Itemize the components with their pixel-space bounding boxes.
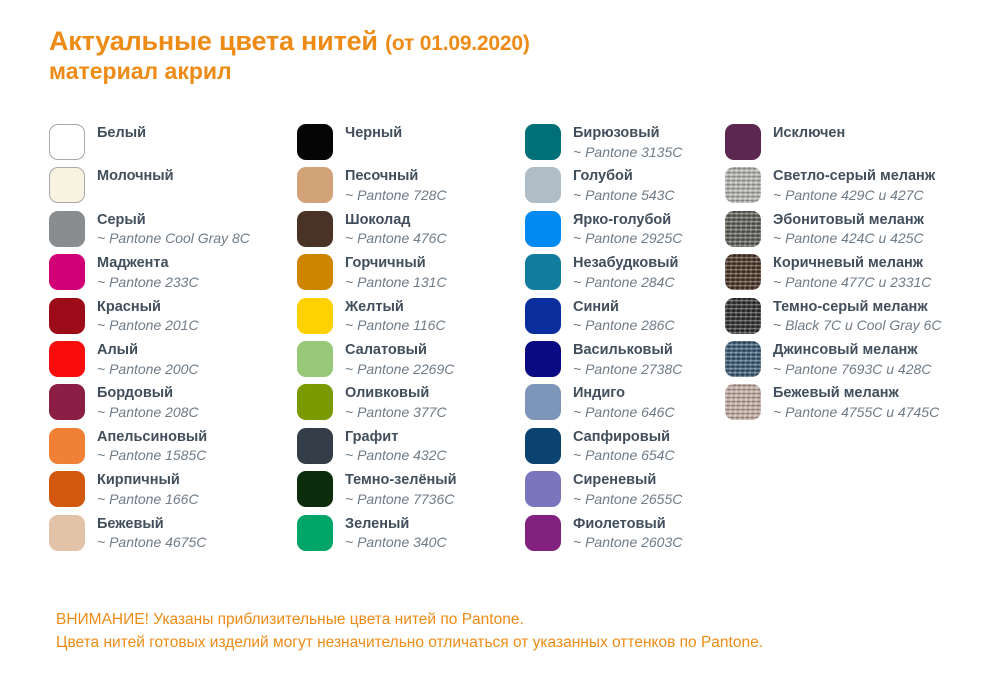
- color-name: Темно-серый меланж: [773, 299, 941, 317]
- color-name: Бежевый: [97, 516, 206, 534]
- color-swatch[interactable]: [525, 254, 561, 290]
- color-labels: Молочный: [97, 167, 174, 186]
- color-swatch[interactable]: [297, 341, 333, 377]
- color-labels: Сиреневый~ Pantone 2655C: [573, 471, 682, 508]
- color-swatch[interactable]: [297, 211, 333, 247]
- color-item[interactable]: Песочный~ Pantone 728C: [297, 167, 525, 210]
- pantone-reference: ~ Pantone 208C: [97, 404, 199, 421]
- color-item[interactable]: Маджента~ Pantone 233C: [49, 254, 297, 297]
- color-labels: Васильковый~ Pantone 2738C: [573, 341, 682, 378]
- color-swatch[interactable]: [725, 254, 761, 290]
- pantone-reference: ~ Pantone 377C: [345, 404, 447, 421]
- color-swatch[interactable]: [525, 428, 561, 464]
- color-labels: Песочный~ Pantone 728C: [345, 167, 447, 204]
- color-item[interactable]: Индиго~ Pantone 646C: [525, 384, 725, 427]
- color-labels: Серый~ Pantone Cool Gray 8C: [97, 211, 250, 248]
- color-item[interactable]: Ярко-голубой~ Pantone 2925C: [525, 211, 725, 254]
- color-item[interactable]: Эбонитовый меланж~ Pantone 424C и 425C: [725, 211, 995, 254]
- color-labels: Шоколад~ Pantone 476C: [345, 211, 447, 248]
- color-swatch[interactable]: [525, 124, 561, 160]
- color-labels: Сапфировый~ Pantone 654C: [573, 428, 675, 465]
- pantone-reference: ~ Pantone 233C: [97, 274, 199, 291]
- color-item[interactable]: Красный~ Pantone 201C: [49, 298, 297, 341]
- color-swatch[interactable]: [525, 384, 561, 420]
- color-item[interactable]: Незабудковый~ Pantone 284C: [525, 254, 725, 297]
- color-swatch[interactable]: [725, 341, 761, 377]
- footer-notice: ВНИМАНИЕ! Указаны приблизительные цвета …: [56, 608, 763, 655]
- color-labels: Оливковый~ Pantone 377C: [345, 384, 447, 421]
- color-name: Кирпичный: [97, 472, 199, 490]
- color-swatch[interactable]: [49, 211, 85, 247]
- color-labels: Горчичный~ Pantone 131C: [345, 254, 447, 291]
- color-swatch[interactable]: [49, 384, 85, 420]
- color-item[interactable]: Голубой~ Pantone 543C: [525, 167, 725, 210]
- color-labels: Бирюзовый~ Pantone 3135C: [573, 124, 682, 161]
- color-labels: Исключен: [773, 124, 845, 143]
- color-swatch[interactable]: [49, 167, 85, 203]
- pantone-reference: ~ Pantone 3135C: [573, 144, 682, 161]
- color-swatch[interactable]: [297, 515, 333, 551]
- color-swatch[interactable]: [525, 211, 561, 247]
- pantone-reference: ~ Pantone 2269C: [345, 361, 454, 378]
- color-swatch[interactable]: [297, 167, 333, 203]
- color-labels: Зеленый~ Pantone 340C: [345, 515, 447, 552]
- color-swatch[interactable]: [525, 298, 561, 334]
- pantone-reference: ~ Pantone Cool Gray 8C: [97, 230, 250, 247]
- pantone-reference: ~ Pantone 2603C: [573, 534, 682, 551]
- color-item[interactable]: Коричневый меланж~ Pantone 477C и 2331C: [725, 254, 995, 297]
- color-labels: Апельсиновый~ Pantone 1585C: [97, 428, 207, 465]
- color-labels: Голубой~ Pantone 543C: [573, 167, 675, 204]
- color-swatch[interactable]: [525, 341, 561, 377]
- color-swatch[interactable]: [525, 515, 561, 551]
- color-name: Серый: [97, 212, 250, 230]
- pantone-reference: ~ Pantone 4675C: [97, 534, 206, 551]
- color-name: Исключен: [773, 125, 845, 143]
- color-column-2: ЧерныйПесочный~ Pantone 728CШоколад~ Pan…: [297, 124, 525, 558]
- pantone-reference: ~ Pantone 131C: [345, 274, 447, 291]
- color-item[interactable]: Желтый~ Pantone 116C: [297, 298, 525, 341]
- color-labels: Джинсовый меланж~ Pantone 7693C и 428C: [773, 341, 931, 378]
- color-item[interactable]: Сапфировый~ Pantone 654C: [525, 428, 725, 471]
- color-name: Шоколад: [345, 212, 447, 230]
- pantone-reference: ~ Pantone 4755C и 4745C: [773, 404, 939, 421]
- pantone-reference: ~ Pantone 432C: [345, 447, 447, 464]
- pantone-reference: ~ Pantone 7736C: [345, 491, 457, 508]
- color-labels: Алый~ Pantone 200C: [97, 341, 199, 378]
- color-labels: Синий~ Pantone 286C: [573, 298, 675, 335]
- color-item[interactable]: Салатовый~ Pantone 2269C: [297, 341, 525, 384]
- color-name: Черный: [345, 125, 402, 143]
- color-name: Темно-зелёный: [345, 472, 457, 490]
- pantone-reference: ~ Pantone 728C: [345, 187, 447, 204]
- pantone-reference: ~ Pantone 200C: [97, 361, 199, 378]
- pantone-reference: ~ Pantone 2655C: [573, 491, 682, 508]
- color-swatch[interactable]: [49, 124, 85, 160]
- color-swatch[interactable]: [725, 384, 761, 420]
- color-name: Бежевый меланж: [773, 385, 939, 403]
- color-name: Синий: [573, 299, 675, 317]
- color-grid: БелыйМолочныйСерый~ Pantone Cool Gray 8C…: [0, 124, 1000, 584]
- color-swatch[interactable]: [525, 167, 561, 203]
- color-item[interactable]: Сиреневый~ Pantone 2655C: [525, 471, 725, 514]
- color-name: Графит: [345, 429, 447, 447]
- color-labels: Кирпичный~ Pantone 166C: [97, 471, 199, 508]
- page-title-main: Актуальные цвета нитей: [49, 26, 378, 56]
- pantone-reference: ~ Pantone 340C: [345, 534, 447, 551]
- color-name: Коричневый меланж: [773, 255, 931, 273]
- color-item[interactable]: Графит~ Pantone 432C: [297, 428, 525, 471]
- pantone-reference: ~ Pantone 646C: [573, 404, 675, 421]
- color-item[interactable]: Синий~ Pantone 286C: [525, 298, 725, 341]
- color-swatch[interactable]: [49, 254, 85, 290]
- footer-line-1: ВНИМАНИЕ! Указаны приблизительные цвета …: [56, 608, 763, 631]
- pantone-reference: ~ Black 7C и Cool Gray 6C: [773, 317, 941, 334]
- color-labels: Ярко-голубой~ Pantone 2925C: [573, 211, 682, 248]
- color-swatch[interactable]: [525, 471, 561, 507]
- pantone-reference: ~ Pantone 424C и 425C: [773, 230, 924, 247]
- color-swatch[interactable]: [725, 211, 761, 247]
- color-item[interactable]: Исключен: [725, 124, 995, 167]
- color-name: Оливковый: [345, 385, 447, 403]
- color-item[interactable]: Васильковый~ Pantone 2738C: [525, 341, 725, 384]
- color-item[interactable]: Темно-серый меланж~ Black 7C и Cool Gray…: [725, 298, 995, 341]
- color-labels: Бежевый~ Pantone 4675C: [97, 515, 206, 552]
- page-header: Актуальные цвета нитей (от 01.09.2020) м…: [49, 26, 949, 84]
- color-name: Джинсовый меланж: [773, 342, 931, 360]
- color-labels: Красный~ Pantone 201C: [97, 298, 199, 335]
- color-name: Песочный: [345, 168, 447, 186]
- color-swatch[interactable]: [49, 471, 85, 507]
- color-item[interactable]: Белый: [49, 124, 297, 167]
- color-swatch[interactable]: [49, 428, 85, 464]
- color-name: Незабудковый: [573, 255, 678, 273]
- pantone-reference: ~ Pantone 284C: [573, 274, 678, 291]
- color-item[interactable]: Кирпичный~ Pantone 166C: [49, 471, 297, 514]
- color-item[interactable]: Апельсиновый~ Pantone 1585C: [49, 428, 297, 471]
- color-swatch[interactable]: [725, 124, 761, 160]
- color-labels: Маджента~ Pantone 233C: [97, 254, 199, 291]
- color-item[interactable]: Бирюзовый~ Pantone 3135C: [525, 124, 725, 167]
- color-column-1: БелыйМолочныйСерый~ Pantone Cool Gray 8C…: [49, 124, 297, 558]
- color-name: Апельсиновый: [97, 429, 207, 447]
- color-name: Молочный: [97, 168, 174, 186]
- color-labels: Бордовый~ Pantone 208C: [97, 384, 199, 421]
- color-name: Голубой: [573, 168, 675, 186]
- color-swatch[interactable]: [297, 471, 333, 507]
- color-labels: Эбонитовый меланж~ Pantone 424C и 425C: [773, 211, 924, 248]
- color-swatch[interactable]: [49, 515, 85, 551]
- color-name: Желтый: [345, 299, 446, 317]
- color-name: Сиреневый: [573, 472, 682, 490]
- color-name: Бирюзовый: [573, 125, 682, 143]
- color-name: Красный: [97, 299, 199, 317]
- pantone-reference: ~ Pantone 654C: [573, 447, 675, 464]
- color-item[interactable]: Бежевый меланж~ Pantone 4755C и 4745C: [725, 384, 995, 427]
- color-name: Салатовый: [345, 342, 454, 360]
- color-item[interactable]: Серый~ Pantone Cool Gray 8C: [49, 211, 297, 254]
- color-labels: Черный: [345, 124, 402, 143]
- color-item[interactable]: Бордовый~ Pantone 208C: [49, 384, 297, 427]
- color-swatch[interactable]: [297, 298, 333, 334]
- color-name: Светло-серый меланж: [773, 168, 935, 186]
- color-swatch[interactable]: [297, 428, 333, 464]
- color-item[interactable]: Зеленый~ Pantone 340C: [297, 515, 525, 558]
- color-name: Зеленый: [345, 516, 447, 534]
- color-labels: Фиолетовый~ Pantone 2603C: [573, 515, 682, 552]
- color-labels: Темно-серый меланж~ Black 7C и Cool Gray…: [773, 298, 941, 335]
- color-labels: Бежевый меланж~ Pantone 4755C и 4745C: [773, 384, 939, 421]
- color-name: Бордовый: [97, 385, 199, 403]
- pantone-reference: ~ Pantone 429C и 427C: [773, 187, 935, 204]
- pantone-reference: ~ Pantone 166C: [97, 491, 199, 508]
- color-column-3: Бирюзовый~ Pantone 3135CГолубой~ Pantone…: [525, 124, 725, 558]
- color-labels: Незабудковый~ Pantone 284C: [573, 254, 678, 291]
- page-title: Актуальные цвета нитей (от 01.09.2020): [49, 26, 949, 57]
- color-labels: Светло-серый меланж~ Pantone 429C и 427C: [773, 167, 935, 204]
- pantone-reference: ~ Pantone 476C: [345, 230, 447, 247]
- color-labels: Коричневый меланж~ Pantone 477C и 2331C: [773, 254, 931, 291]
- page-title-date: (от 01.09.2020): [385, 32, 530, 55]
- color-name: Алый: [97, 342, 199, 360]
- color-item[interactable]: Бежевый~ Pantone 4675C: [49, 515, 297, 558]
- pantone-reference: ~ Pantone 286C: [573, 317, 675, 334]
- color-name: Индиго: [573, 385, 675, 403]
- color-item[interactable]: Шоколад~ Pantone 476C: [297, 211, 525, 254]
- color-item[interactable]: Оливковый~ Pantone 377C: [297, 384, 525, 427]
- color-name: Васильковый: [573, 342, 682, 360]
- color-swatch[interactable]: [49, 298, 85, 334]
- color-item[interactable]: Джинсовый меланж~ Pantone 7693C и 428C: [725, 341, 995, 384]
- color-swatch[interactable]: [297, 384, 333, 420]
- color-item[interactable]: Темно-зелёный~ Pantone 7736C: [297, 471, 525, 514]
- pantone-reference: ~ Pantone 7693C и 428C: [773, 361, 931, 378]
- color-swatch[interactable]: [297, 254, 333, 290]
- footer-line-2: Цвета нитей готовых изделий могут незнач…: [56, 631, 763, 654]
- color-swatch[interactable]: [49, 341, 85, 377]
- pantone-reference: ~ Pantone 543C: [573, 187, 675, 204]
- pantone-reference: ~ Pantone 477C и 2331C: [773, 274, 931, 291]
- color-item[interactable]: Молочный: [49, 167, 297, 210]
- color-name: Ярко-голубой: [573, 212, 682, 230]
- pantone-reference: ~ Pantone 201C: [97, 317, 199, 334]
- color-name: Фиолетовый: [573, 516, 682, 534]
- color-name: Горчичный: [345, 255, 447, 273]
- pantone-reference: ~ Pantone 2925C: [573, 230, 682, 247]
- color-name: Белый: [97, 125, 146, 143]
- color-name: Сапфировый: [573, 429, 675, 447]
- color-labels: Индиго~ Pantone 646C: [573, 384, 675, 421]
- pantone-reference: ~ Pantone 2738C: [573, 361, 682, 378]
- color-labels: Салатовый~ Pantone 2269C: [345, 341, 454, 378]
- page-subtitle: материал акрил: [49, 58, 949, 84]
- color-item[interactable]: Черный: [297, 124, 525, 167]
- color-name: Эбонитовый меланж: [773, 212, 924, 230]
- pantone-reference: ~ Pantone 116C: [345, 317, 446, 334]
- color-swatch[interactable]: [725, 167, 761, 203]
- color-labels: Темно-зелёный~ Pantone 7736C: [345, 471, 457, 508]
- pantone-reference: ~ Pantone 1585C: [97, 447, 207, 464]
- color-item[interactable]: Фиолетовый~ Pantone 2603C: [525, 515, 725, 558]
- color-swatch[interactable]: [297, 124, 333, 160]
- color-labels: Желтый~ Pantone 116C: [345, 298, 446, 335]
- color-item[interactable]: Светло-серый меланж~ Pantone 429C и 427C: [725, 167, 995, 210]
- color-labels: Графит~ Pantone 432C: [345, 428, 447, 465]
- color-name: Маджента: [97, 255, 199, 273]
- color-column-4: ИсключенСветло-серый меланж~ Pantone 429…: [725, 124, 995, 428]
- color-item[interactable]: Алый~ Pantone 200C: [49, 341, 297, 384]
- color-item[interactable]: Горчичный~ Pantone 131C: [297, 254, 525, 297]
- color-swatch[interactable]: [725, 298, 761, 334]
- color-labels: Белый: [97, 124, 146, 143]
